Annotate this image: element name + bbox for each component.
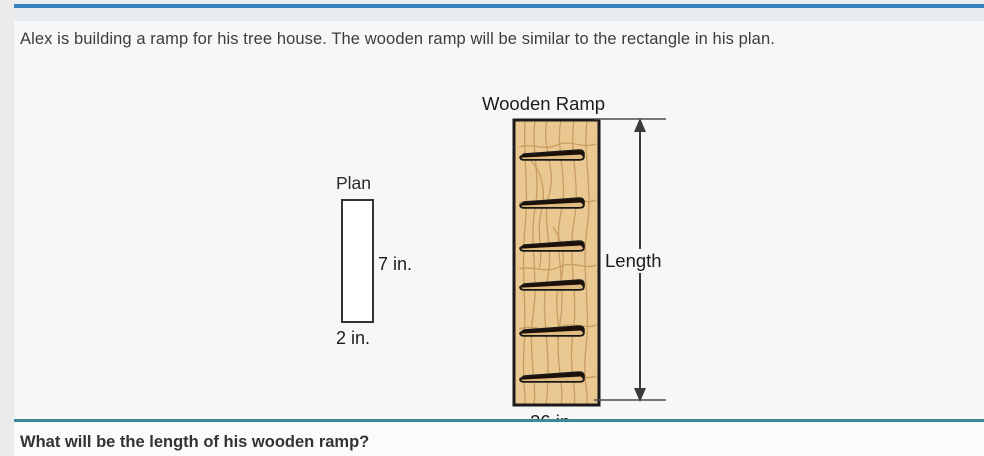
question-prompt-panel: What will be the length of his wooden ra… [14, 422, 984, 456]
plan-title: Plan [336, 173, 371, 194]
plan-height-dimension-label: 7 in. [378, 254, 412, 275]
ramp-length-label: Length [602, 249, 665, 273]
figure-area: Plan 7 in. 2 in. Wooden Ramp [14, 61, 984, 419]
page-root: Alex is building a ramp for his tree hou… [0, 0, 984, 456]
left-rail [0, 0, 14, 456]
question-content-panel: Alex is building a ramp for his tree hou… [14, 21, 984, 419]
wooden-ramp-title: Wooden Ramp [482, 93, 605, 115]
question-stem: Alex is building a ramp for his tree hou… [20, 30, 775, 49]
plan-width-dimension-label: 2 in. [336, 328, 370, 349]
question-prompt-text: What will be the length of his wooden ra… [20, 433, 369, 452]
plan-rectangle [341, 199, 374, 323]
header-band [14, 8, 984, 21]
wooden-ramp-board-image [511, 117, 602, 408]
